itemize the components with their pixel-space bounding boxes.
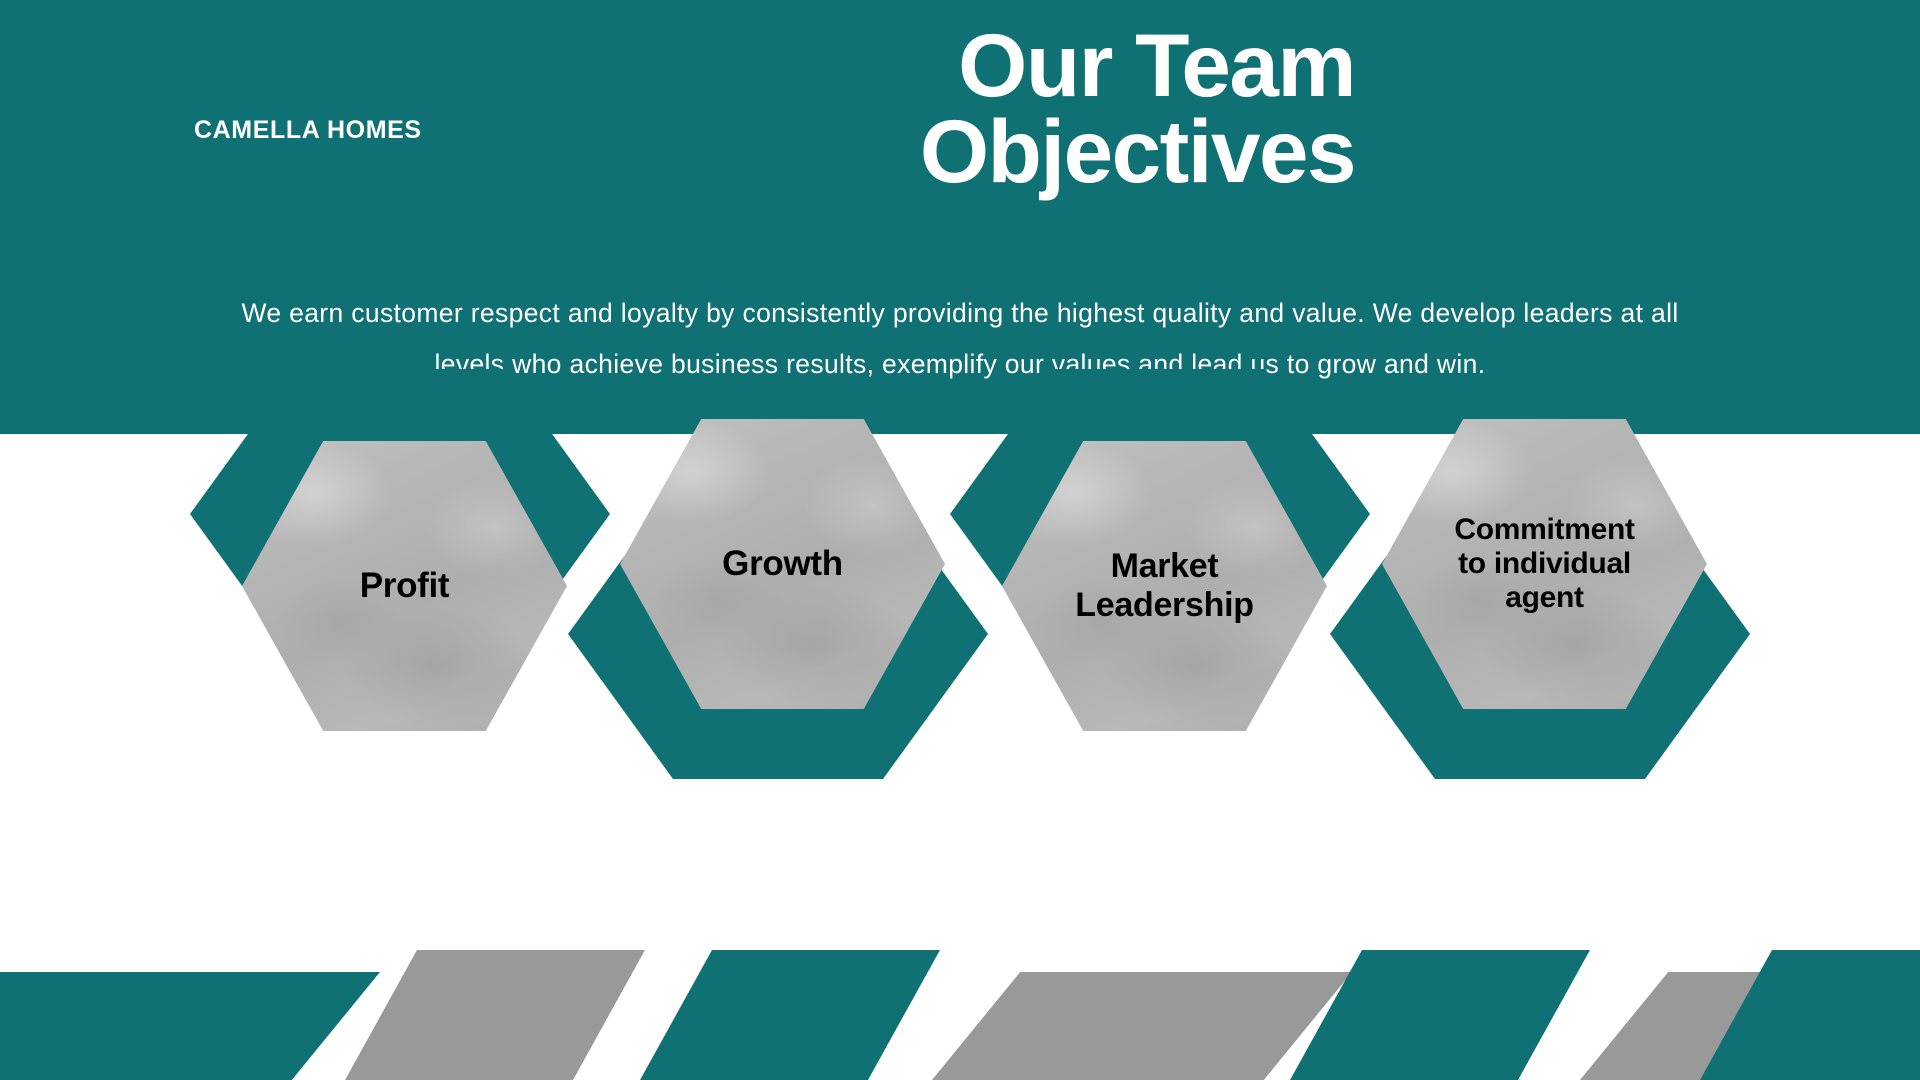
objective-label-line: Leadership bbox=[1075, 586, 1253, 625]
objectives-hexagon-row: Profit Growth Market Leadership bbox=[0, 434, 1920, 854]
objective-label-line: to individual bbox=[1454, 547, 1634, 581]
objective-label-market-leadership: Market Leadership bbox=[1002, 441, 1327, 731]
ribbon-slab-gray bbox=[932, 972, 1352, 1080]
objective-label-line: agent bbox=[1454, 581, 1634, 615]
ribbon-slab-gray bbox=[345, 950, 645, 1080]
objective-label-commitment: Commitment to individual agent bbox=[1382, 419, 1707, 709]
objective-label-line: Market bbox=[1075, 547, 1253, 586]
page-title: Our Team Objectives bbox=[535, 22, 1355, 195]
objective-label-growth: Growth bbox=[620, 419, 945, 709]
objective-label-line: Growth bbox=[722, 544, 843, 584]
objective-label-line: Profit bbox=[360, 566, 450, 606]
ribbon-slab-teal bbox=[640, 950, 940, 1080]
page-title-line-1: Our Team bbox=[535, 22, 1355, 108]
ribbon-slab-teal bbox=[0, 972, 380, 1080]
page-title-line-2: Objectives bbox=[535, 108, 1355, 194]
brand-name: CAMELLA HOMES bbox=[194, 118, 422, 143]
objective-label-line: Commitment bbox=[1454, 513, 1634, 547]
slide-canvas: CAMELLA HOMES Our Team Objectives We ear… bbox=[0, 0, 1920, 1080]
bottom-decorative-ribbon bbox=[0, 950, 1920, 1080]
header-band: CAMELLA HOMES Our Team Objectives We ear… bbox=[0, 0, 1920, 434]
ribbon-slab-teal bbox=[1290, 950, 1590, 1080]
objective-label-profit: Profit bbox=[242, 441, 567, 731]
